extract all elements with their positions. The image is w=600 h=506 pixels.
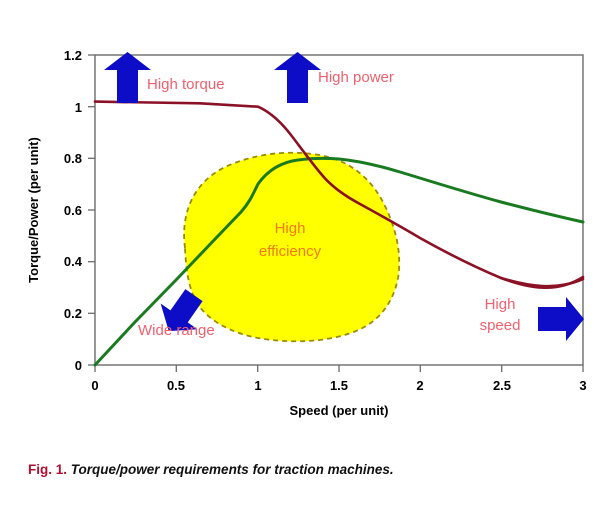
- x-tick-label: 2: [416, 378, 423, 393]
- y-tick-label: 0.6: [64, 203, 82, 218]
- y-tick-label: 0.4: [64, 254, 83, 269]
- high-speed-label-line2: speed: [480, 317, 521, 334]
- y-axis-tick-labels: 0 0.2 0.4 0.6 0.8 1 1.2: [64, 48, 83, 373]
- x-tick-label: 3: [579, 378, 586, 393]
- y-tick-label: 0.8: [64, 151, 82, 166]
- x-tick-label: 0.5: [167, 378, 185, 393]
- y-tick-label: 0.2: [64, 306, 82, 321]
- y-tick-label: 0: [75, 358, 82, 373]
- figure-number: Fig. 1.: [28, 462, 67, 477]
- x-tick-label: 2.5: [493, 378, 511, 393]
- figure-container: 0 0.2 0.4 0.6 0.8 1 1.2 0 0.5 1 1.5 2 2.…: [0, 0, 600, 506]
- figure-caption: Fig. 1. Torque/power requirements for tr…: [28, 462, 588, 478]
- x-tick-label: 0: [91, 378, 98, 393]
- high-torque-label: High torque: [147, 76, 225, 93]
- x-tick-label: 1.5: [330, 378, 348, 393]
- y-axis-title: Torque/Power (per unit): [26, 137, 41, 283]
- x-axis-title: Speed (per unit): [290, 403, 389, 418]
- wide-range-label: Wide range: [138, 322, 215, 339]
- high-power-label: High power: [318, 69, 394, 86]
- x-axis-tick-labels: 0 0.5 1 1.5 2 2.5 3: [91, 378, 586, 393]
- torque-power-chart: 0 0.2 0.4 0.6 0.8 1 1.2 0 0.5 1 1.5 2 2.…: [0, 0, 600, 506]
- high-efficiency-label-line2: efficiency: [259, 243, 322, 260]
- x-tick-label: 1: [254, 378, 261, 393]
- figure-caption-text: Torque/power requirements for traction m…: [71, 462, 394, 477]
- high-speed-label-line1: High: [485, 296, 516, 313]
- high-efficiency-label-line1: High: [275, 220, 306, 237]
- y-tick-label: 1.2: [64, 48, 82, 63]
- x-axis-ticks: [95, 365, 583, 372]
- y-tick-label: 1: [75, 100, 82, 115]
